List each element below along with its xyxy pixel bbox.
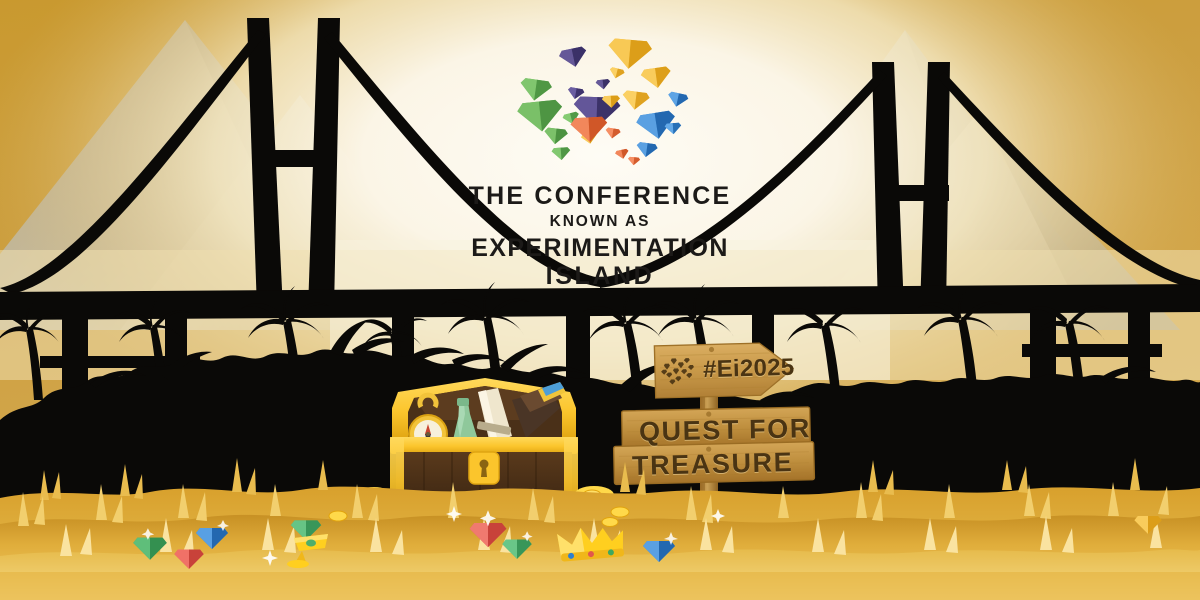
title-line-known-as: KNOWN AS — [0, 211, 1200, 233]
signpost-board2-label[interactable]: TREASURE — [632, 447, 794, 482]
poster-canvas: THE CONFERENCE KNOWN AS EXPERIMENTATION … — [0, 0, 1200, 600]
title-line-island: ISLAND — [0, 262, 1200, 290]
chest-lock-icon — [469, 452, 499, 484]
title-line-the-conference: THE CONFERENCE — [0, 182, 1200, 210]
foreground-layer — [0, 0, 1200, 600]
golden-grass-foreground — [0, 458, 1200, 600]
poster-title: THE CONFERENCE KNOWN AS EXPERIMENTATION … — [0, 182, 1200, 290]
signpost-arrow-label[interactable]: #Ei2025 — [703, 354, 795, 384]
title-line-experimentation: EXPERIMENTATION — [0, 234, 1200, 262]
signpost-board1-label[interactable]: QUEST FOR — [639, 413, 812, 448]
